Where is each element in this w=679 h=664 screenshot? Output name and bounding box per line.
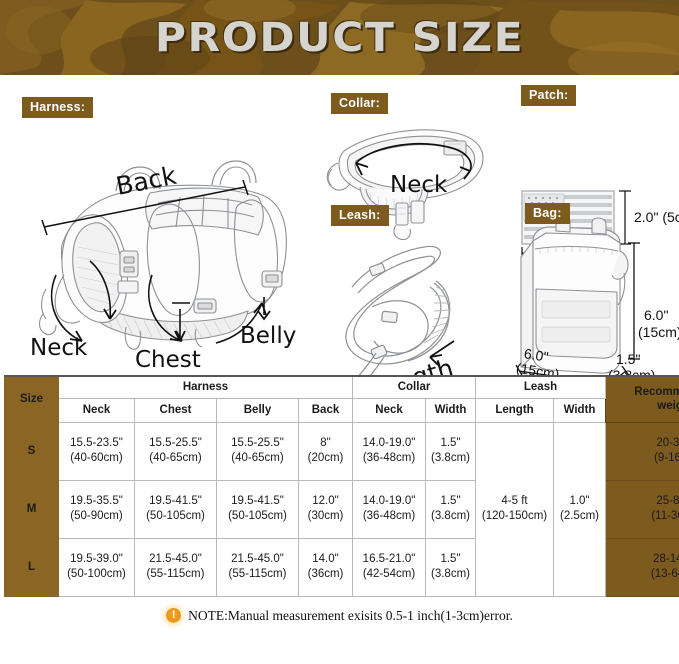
- row-size-s: S: [5, 422, 59, 480]
- cell-l-harness-neck: 19.5-39.0" (50-100cm): [59, 538, 135, 596]
- subheader-leash-length: Length: [476, 398, 554, 422]
- size-table-wrapper: Size Harness Collar Leash Recommended we…: [0, 375, 679, 597]
- bag-height-dimension: [628, 243, 640, 359]
- collar-neck-text: Neck: [390, 172, 448, 198]
- cell-l-collar-width: 1.5" (3.8cm): [426, 538, 476, 596]
- rec-head-line2: weight: [607, 399, 679, 414]
- row-size-m: M: [5, 480, 59, 538]
- cell-s-recommended-weight: 20-35lb (9-16kg): [606, 422, 679, 480]
- cell-m-collar-neck: 14.0-19.0" (36-48cm): [353, 480, 426, 538]
- rec-head-line1: Recommended: [607, 385, 679, 400]
- cell-s-harness-neck: 15.5-23.5" (40-60cm): [59, 422, 135, 480]
- page-header-banner: PRODUCT SIZE: [0, 0, 679, 75]
- patch-height-label: 2.0" (5cm): [634, 209, 679, 225]
- harness-belly-text: Belly: [240, 323, 296, 349]
- cell-l-collar-neck: 16.5-21.0" (42-54cm): [353, 538, 426, 596]
- cell-s-harness-belly: 15.5-25.5" (40-65cm): [217, 422, 299, 480]
- leash-label: Leash:: [331, 205, 389, 226]
- subheader-harness-chest: Chest: [135, 398, 217, 422]
- patch-label: Patch:: [521, 85, 576, 106]
- subheader-leash-width: Width: [554, 398, 606, 422]
- cell-l-harness-back: 14.0" (36cm): [299, 538, 353, 596]
- subheader-harness-neck: Neck: [59, 398, 135, 422]
- bag-height-label-in: 6.0": [644, 307, 668, 323]
- cell-l-recommended-weight: 28-140lb (13-64kg): [606, 538, 679, 596]
- cell-s-collar-neck: 14.0-19.0" (36-48cm): [353, 422, 426, 480]
- harness-label: Harness:: [22, 97, 93, 118]
- note-text: NOTE:Manual measurement exisits 0.5-1 in…: [188, 608, 513, 624]
- cell-leash-length: 4-5 ft (120-150cm): [476, 422, 554, 596]
- product-diagrams-area: Harness: Collar: Patch: Leash: Bag:: [0, 75, 679, 375]
- bag-label: Bag:: [525, 203, 570, 224]
- cell-s-collar-width: 1.5" (3.8cm): [426, 422, 476, 480]
- subheader-harness-back: Back: [299, 398, 353, 422]
- table-group-leash: Leash: [476, 376, 606, 398]
- cell-s-harness-chest: 15.5-25.5" (40-65cm): [135, 422, 217, 480]
- cell-leash-width: 1.0" (2.5cm): [554, 422, 606, 596]
- table-group-harness: Harness: [59, 376, 353, 398]
- table-header-recommended-weight: Recommended weight: [606, 376, 679, 422]
- harness-neck-text: Neck: [30, 335, 88, 361]
- cell-m-collar-width: 1.5" (3.8cm): [426, 480, 476, 538]
- patch-height-dimension: [619, 191, 631, 244]
- note-bar: ! NOTE:Manual measurement exisits 0.5-1 …: [0, 600, 679, 632]
- subheader-collar-width: Width: [426, 398, 476, 422]
- harness-chest-text: Chest: [135, 347, 201, 373]
- cell-m-harness-belly: 19.5-41.5" (50-105cm): [217, 480, 299, 538]
- cell-m-harness-neck: 19.5-35.5" (50-90cm): [59, 480, 135, 538]
- cell-l-harness-belly: 21.5-45.0" (55-115cm): [217, 538, 299, 596]
- bag-height-label-cm: (15cm): [638, 324, 679, 340]
- cell-s-harness-back: 8" (20cm): [299, 422, 353, 480]
- table-group-collar: Collar: [353, 376, 476, 398]
- bag-depth-label-in: 1.5": [616, 351, 640, 367]
- subheader-harness-belly: Belly: [217, 398, 299, 422]
- cell-l-harness-chest: 21.5-45.0" (55-115cm): [135, 538, 217, 596]
- warning-icon: !: [166, 608, 181, 623]
- cell-m-harness-back: 12.0" (30cm): [299, 480, 353, 538]
- cell-m-harness-chest: 19.5-41.5" (50-105cm): [135, 480, 217, 538]
- size-table: Size Harness Collar Leash Recommended we…: [4, 375, 679, 597]
- page-title: PRODUCT SIZE: [0, 0, 679, 75]
- cell-m-recommended-weight: 25-80lb (11-36kg): [606, 480, 679, 538]
- collar-label: Collar:: [331, 93, 388, 114]
- subheader-collar-neck: Neck: [353, 398, 426, 422]
- row-size-l: L: [5, 538, 59, 596]
- table-header-size: Size: [5, 376, 59, 422]
- table-row: S 15.5-23.5" (40-60cm) 15.5-25.5" (40-65…: [5, 422, 679, 480]
